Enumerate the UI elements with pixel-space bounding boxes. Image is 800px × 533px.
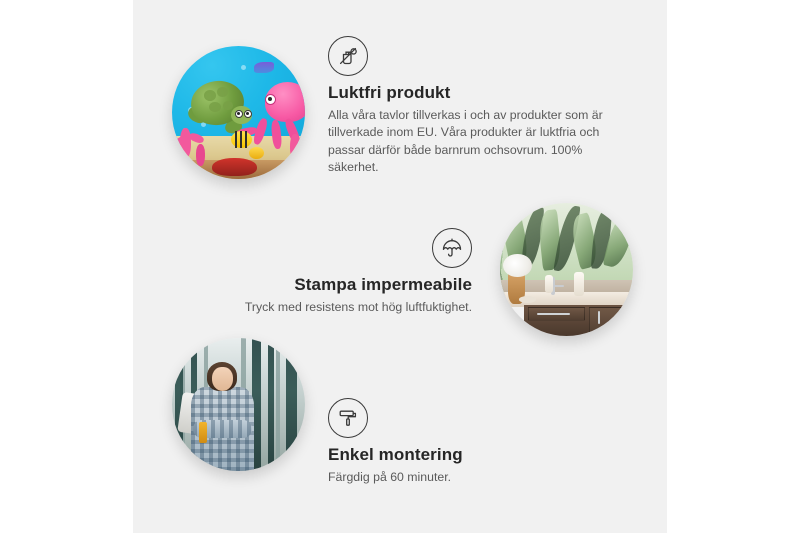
feature-description: Tryck med resistens mot hög luftfuktighe… <box>222 299 472 316</box>
icon-wrap <box>328 36 626 76</box>
paint-roller-icon <box>328 398 368 438</box>
white-flowers <box>503 254 532 278</box>
feature-title: Enkel montering <box>328 445 558 465</box>
vanity-cabinet <box>524 305 633 336</box>
purple-fish <box>254 62 274 73</box>
hand-tool <box>199 422 207 443</box>
coral-right <box>290 134 299 161</box>
icon-wrap <box>328 398 558 438</box>
underwater-kids-mural-photo <box>172 46 305 179</box>
soap-dish <box>519 296 536 303</box>
umbrella-icon <box>432 228 472 268</box>
product-feature-banner: Luktfri produkt Alla våra tavlor tillver… <box>0 0 800 533</box>
feature-waterproof: Stampa impermeabile Tryck med resistens … <box>222 228 472 316</box>
feature-title: Stampa impermeabile <box>222 275 472 295</box>
feature-odourless: Luktfri produkt Alla våra tavlor tillver… <box>328 36 626 177</box>
feature-description: Alla våra tavlor tillverkas i och av pro… <box>328 107 620 177</box>
feature-mounting: Enkel montering Färgdig på 60 minuter. <box>328 398 558 486</box>
feature-title: Luktfri produkt <box>328 83 626 103</box>
soap-bottle <box>574 272 583 296</box>
crab <box>212 158 257 177</box>
feature-description: Färgdig på 60 minuter. <box>328 469 558 486</box>
no-fragrance-icon <box>328 36 368 76</box>
bathroom-tropical-wallpaper-photo <box>500 203 633 336</box>
woman-with-wallpaper-roll-photo <box>172 338 305 471</box>
icon-wrap <box>222 228 472 268</box>
small-fish <box>249 147 264 159</box>
